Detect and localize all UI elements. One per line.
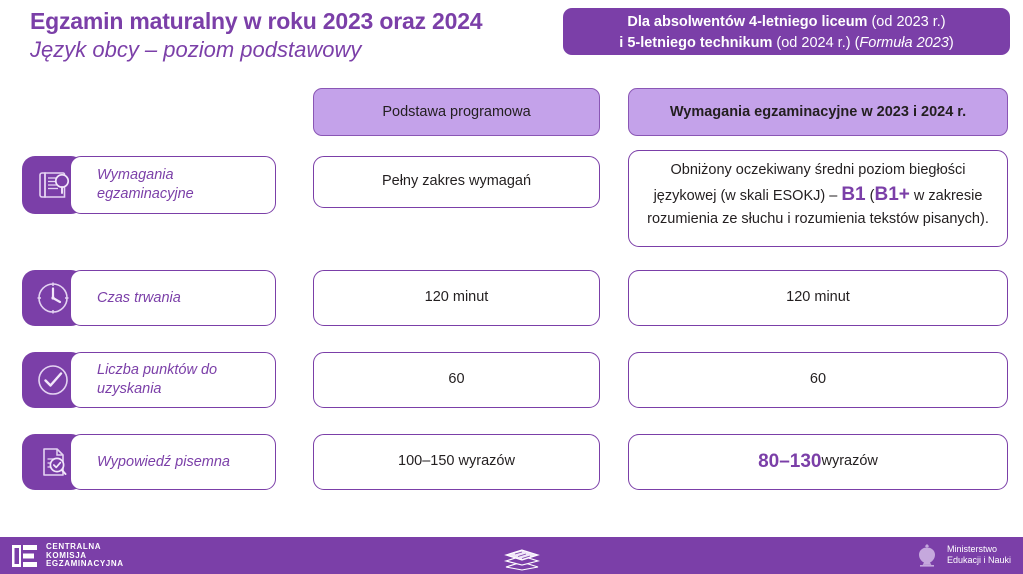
table-row: Wymagania egzaminacyjne Pełny zakres wym… [0,150,1023,210]
row-label-czas-text: Czas trwania [70,270,276,326]
cell-wymagania-punkty: 60 [628,352,1008,408]
cell-wymagania-wypowiedz: 80–130 wyrazów [628,434,1008,490]
polish-eagle-emblem [914,541,940,569]
cke-line-3: EGZAMINACYJNA [46,560,124,569]
cell-podstawa-czas: 120 minut [313,270,600,326]
men-logo-text: Ministerstwo Edukacji i Nauki [947,544,1011,566]
cell-podstawa-wymagania: Pełny zakres wymagań [313,156,600,208]
cell-podstawa-punkty: 60 [313,352,600,408]
audience-badge-line-2-rest: (od 2024 r.) ( [772,35,859,51]
table-row: Czas trwania 120 minut 120 minut [0,270,1023,326]
page-subtitle: Język obcy – poziom podstawowy [30,37,560,63]
cell-podstawa-czas-text: 120 minut [313,270,600,326]
stacked-papers-icon [494,541,550,571]
cell-wymagania-punkty-text: 60 [628,352,1008,408]
row-label-punkty: Liczba punktów do uzyskania [22,352,276,408]
cell-wymagania-czas: 120 minut [628,270,1008,326]
audience-badge-line-2-end: ) [949,35,954,51]
comparison-grid: Podstawa programowa Wymagania egzaminacy… [0,88,1023,490]
audience-badge-line-1-bold: Dla absolwentów 4-letniego liceum [627,14,867,30]
cell-wypowiedz-accent: 80–130 [758,448,821,476]
cke-mark-icon [10,542,40,570]
cke-logo: CENTRALNA KOMISJA EGZAMINACYJNA [10,542,124,570]
cell-b1-accent-1: B1 [841,184,865,205]
audience-badge: Dla absolwentów 4-letniego liceum (od 20… [563,8,1010,55]
cell-podstawa-wymagania-text: Pełny zakres wymagań [313,156,600,208]
row-label-wymagania-text: Wymagania egzaminacyjne [70,156,276,214]
slide-footer: CENTRALNA KOMISJA EGZAMINACYJNA Minister… [0,537,1023,574]
page-title: Egzamin maturalny w roku 2023 oraz 2024 [30,8,560,35]
row-label-punkty-text: Liczba punktów do uzyskania [70,352,276,408]
cell-wymagania-wymagania-text: Obniżony oczekiwany średni poziom biegło… [628,150,1008,247]
slide-header: Egzamin maturalny w roku 2023 oraz 2024 … [0,0,1023,86]
cell-podstawa-wypowiedz: 100–150 wyrazów [313,434,600,490]
column-header-wymagania: Wymagania egzaminacyjne w 2023 i 2024 r. [628,88,1008,136]
cell-wymagania-wymagania: Obniżony oczekiwany średni poziom biegło… [628,150,1008,247]
men-logo: Ministerstwo Edukacji i Nauki [914,541,1011,569]
cke-logo-text: CENTRALNA KOMISJA EGZAMINACYJNA [46,543,124,569]
column-header-wymagania-label: Wymagania egzaminacyjne w 2023 i 2024 r. [628,88,1008,136]
audience-badge-line-2-bold: i 5-letniego technikum [619,35,772,51]
cell-wymagania-wypowiedz-text: 80–130 wyrazów [628,434,1008,490]
row-label-wypowiedz: Wypowiedź pisemna [22,434,276,490]
audience-badge-line-1-rest: (od 2023 r.) [867,14,945,30]
cell-podstawa-wypowiedz-text: 100–150 wyrazów [313,434,600,490]
row-label-czas: Czas trwania [22,270,276,326]
cell-podstawa-punkty-text: 60 [313,352,600,408]
title-block: Egzamin maturalny w roku 2023 oraz 2024 … [30,8,560,64]
table-row: Liczba punktów do uzyskania 60 60 [0,352,1023,408]
table-row: Wypowiedź pisemna 100–150 wyrazów 80–130… [0,434,1023,490]
audience-badge-line-2: i 5-letniego technikum (od 2024 r.) (For… [619,33,953,54]
column-header-podstawa-label: Podstawa programowa [313,88,600,136]
audience-badge-formula: Formuła 2023 [859,35,948,51]
cell-wypowiedz-rest: wyrazów [822,451,878,472]
cell-b1-accent-2: B1+ [874,184,909,205]
column-header-podstawa: Podstawa programowa [313,88,600,136]
cell-wymagania-czas-text: 120 minut [628,270,1008,326]
men-line-2: Edukacji i Nauki [947,555,1011,566]
audience-badge-line-1: Dla absolwentów 4-letniego liceum (od 20… [627,12,945,33]
row-label-wypowiedz-text: Wypowiedź pisemna [70,434,276,490]
grid-header-row: Podstawa programowa Wymagania egzaminacy… [0,88,1023,136]
row-label-wymagania: Wymagania egzaminacyjne [22,156,276,214]
men-line-1: Ministerstwo [947,544,1011,555]
